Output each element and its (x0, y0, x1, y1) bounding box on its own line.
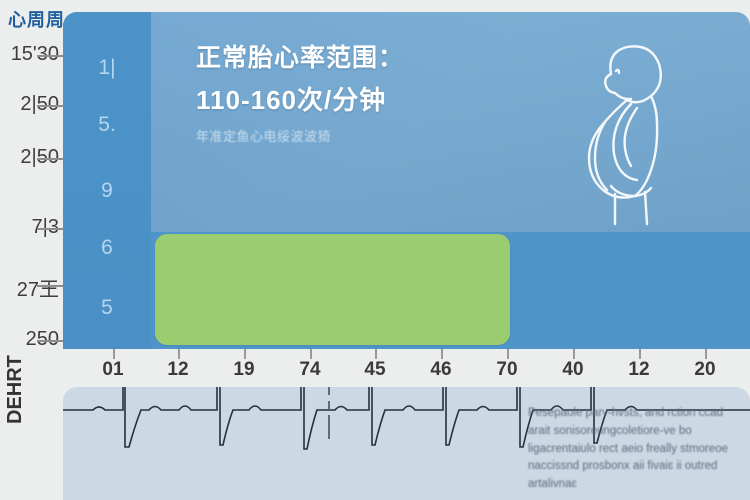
x-tick-label-1: 12 (167, 359, 188, 381)
fetus-outline-icon (575, 38, 695, 228)
chart-primary-column[interactable]: 1| 5. 9 6 5 (63, 12, 151, 349)
y-tick-mark-0 (37, 55, 63, 57)
x-tick-label-6: 70 (496, 359, 517, 381)
x-tick-label-5: 46 (430, 359, 451, 381)
x-tick-mark-7 (573, 349, 575, 359)
x-tick-mark-3 (310, 349, 312, 359)
x-tick-mark-8 (639, 349, 641, 359)
x-tick-mark-5 (441, 349, 443, 359)
ecg-description-text: Pesepaole parv-hvsts, and rction ccad ar… (528, 405, 743, 494)
y-tick-mark-3 (37, 228, 63, 230)
y-tick-mark-2 (37, 158, 63, 160)
x-tick-label-2: 19 (233, 359, 254, 381)
x-tick-mark-1 (178, 349, 180, 359)
headline-line-2: 110-160次/分钟 (196, 80, 404, 117)
y-axis: 15'30 2|50 2|50 7|3 27王 250 (0, 0, 63, 360)
x-tick-label-0: 01 (102, 359, 123, 381)
column-value-4: 5 (63, 296, 151, 320)
x-tick-label-9: 20 (694, 359, 715, 381)
y-tick-mark-1 (37, 105, 63, 107)
x-tick-mark-6 (507, 349, 509, 359)
headline-subtitle: 年准定鱼心电绥波波猗 (196, 126, 404, 145)
x-axis: 01 12 19 74 45 46 70 40 12 20 (63, 349, 750, 383)
x-tick-label-4: 45 (364, 359, 385, 381)
column-value-0: 1| (63, 56, 151, 80)
vertical-axis-label: DEHRT (4, 355, 27, 424)
headline-line-1: 正常胎心率范围： (196, 38, 404, 74)
x-tick-mark-9 (705, 349, 707, 359)
y-tick-label-4: 27王 (17, 273, 59, 302)
x-tick-label-7: 40 (562, 359, 583, 381)
x-tick-label-8: 12 (628, 359, 649, 381)
normal-range-band[interactable] (155, 234, 510, 345)
x-tick-mark-2 (244, 349, 246, 359)
x-tick-label-3: 74 (299, 359, 320, 381)
column-value-1: 5. (63, 113, 151, 137)
ecg-panel: Pesepaole parv-hvsts, and rction ccad ar… (63, 387, 750, 500)
column-value-3: 6 (63, 236, 151, 260)
x-tick-mark-0 (113, 349, 115, 359)
x-tick-mark-4 (375, 349, 377, 359)
y-tick-mark-5 (37, 340, 63, 342)
headline-block: 正常胎心率范围： 110-160次/分钟 年准定鱼心电绥波波猗 (196, 38, 404, 145)
column-value-2: 9 (63, 179, 151, 203)
y-tick-mark-4 (37, 285, 63, 287)
